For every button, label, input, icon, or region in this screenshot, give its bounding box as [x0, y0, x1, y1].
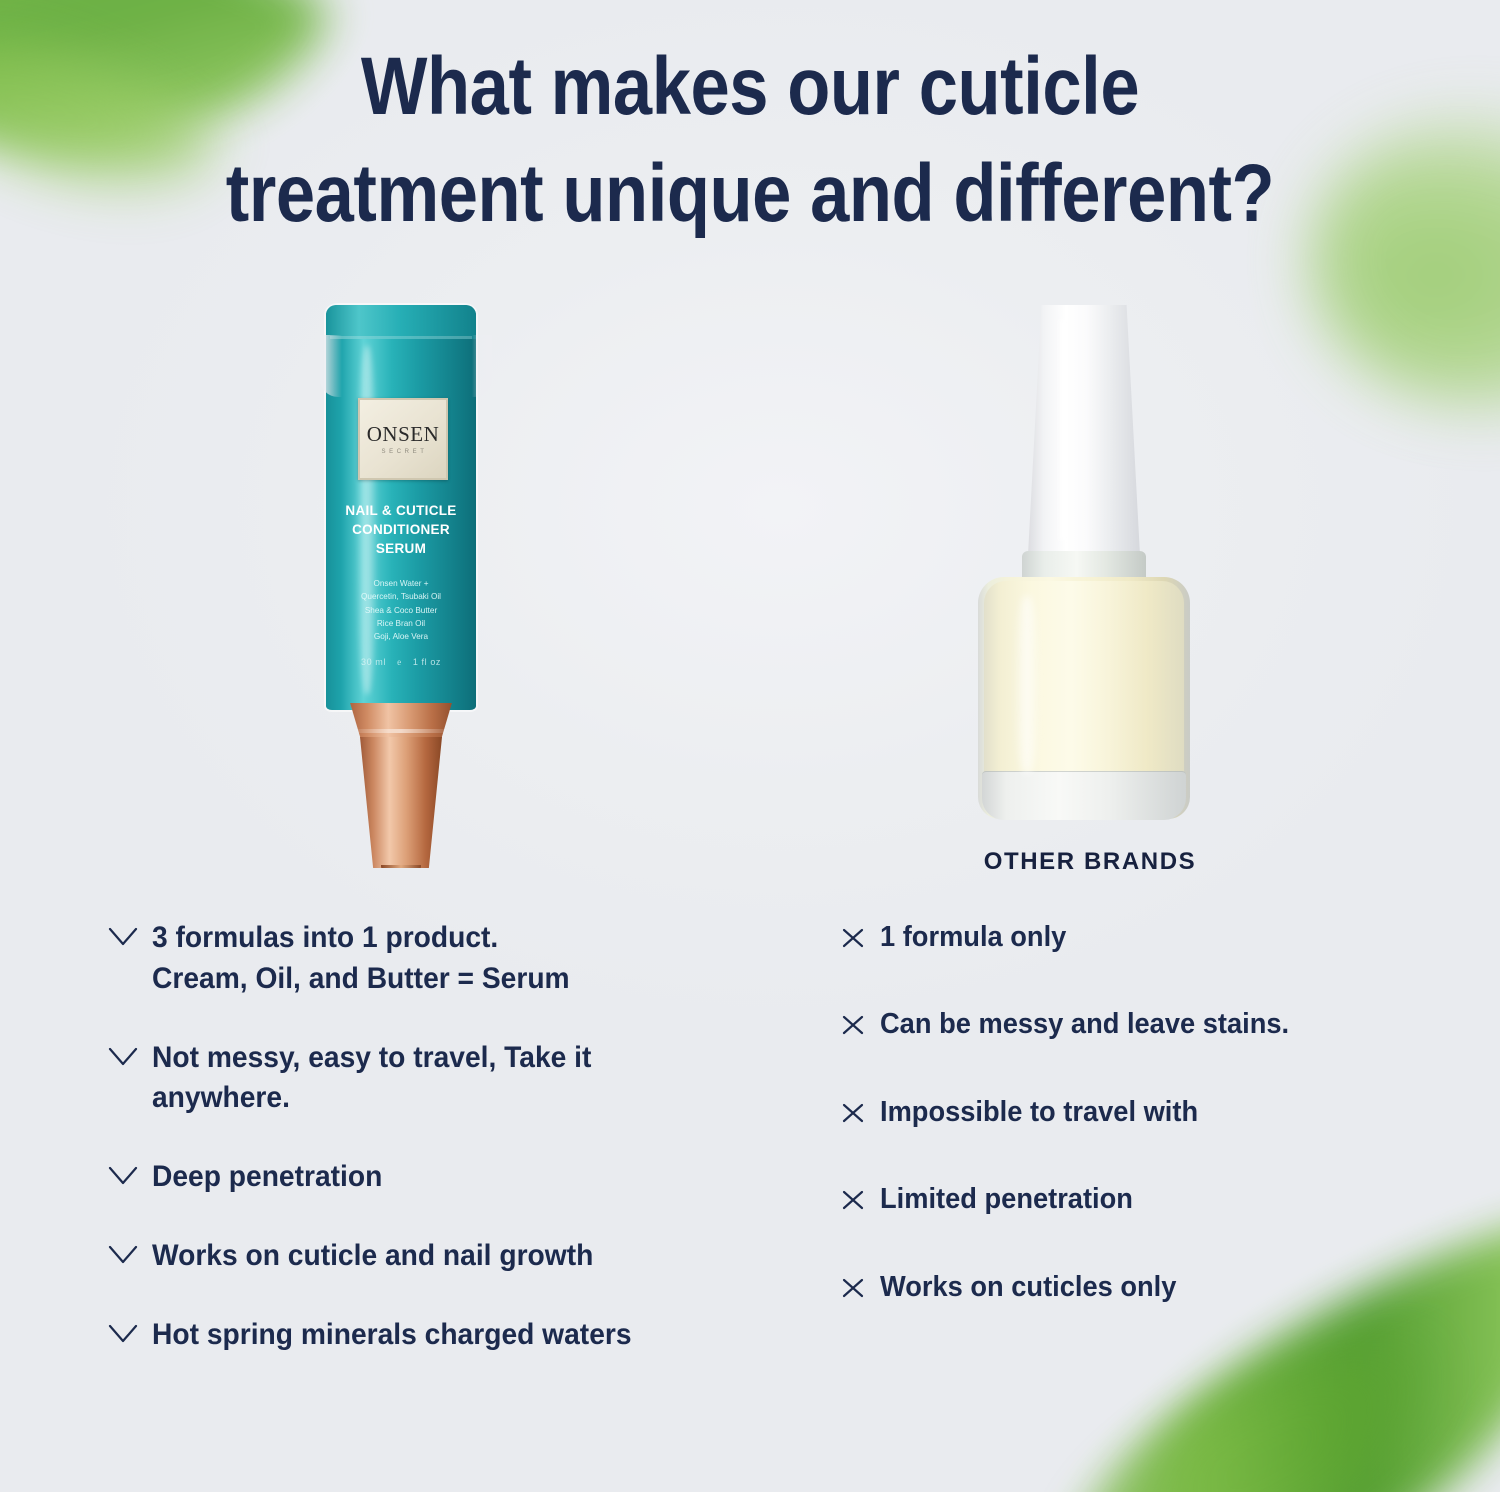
tube-applicator-collar	[348, 703, 454, 739]
ingredients-list: Onsen Water + Quercetin, Tsubaki Oil She…	[326, 577, 476, 643]
check-icon	[108, 1165, 138, 1187]
list-item: Can be messy and leave stains.	[840, 1005, 1440, 1044]
list-item-text: Not messy, easy to travel, Take it anywh…	[152, 1038, 591, 1120]
cross-icon	[840, 1276, 866, 1300]
volume-metric: 30 ml	[361, 657, 386, 667]
list-item-text: Hot spring minerals charged waters	[152, 1315, 632, 1356]
list-item-line-1: Deep penetration	[152, 1160, 382, 1193]
tube-shoulder-left	[320, 335, 342, 397]
tube-crimp-seal	[326, 305, 476, 339]
ingredient-line-2: Quercetin, Tsubaki Oil	[361, 592, 441, 601]
ingredient-line-4: Rice Bran Oil	[377, 619, 425, 628]
our-features-list: 3 formulas into 1 product. Cream, Oil, a…	[108, 918, 768, 1394]
list-item: Works on cuticles only	[840, 1268, 1440, 1307]
list-item-line-1: Works on cuticles only	[880, 1271, 1176, 1303]
cross-icon	[840, 926, 866, 950]
product-name: NAIL & CUTICLE CONDITIONER SERUM	[326, 501, 476, 558]
list-item-text: Limited penetration	[880, 1180, 1133, 1219]
list-item-line-1: Hot spring minerals charged waters	[152, 1318, 632, 1351]
list-item-line-1: 3 formulas into 1 product.	[152, 921, 498, 954]
list-item: Deep penetration	[108, 1157, 768, 1198]
list-item-text: Works on cuticle and nail growth	[152, 1236, 593, 1277]
list-item-text: 1 formula only	[880, 918, 1066, 957]
bottle-highlight	[1014, 595, 1040, 775]
cross-icon	[840, 1013, 866, 1037]
product-name-line-2: CONDITIONER	[352, 522, 450, 537]
list-item: 3 formulas into 1 product. Cream, Oil, a…	[108, 918, 768, 1000]
list-item-line-1: Works on cuticle and nail growth	[152, 1239, 593, 1272]
brand-logo-label: ONSEN SECRET	[358, 398, 448, 480]
volume-imperial: 1 fl oz	[413, 657, 441, 667]
product-name-line-3: SERUM	[376, 541, 426, 556]
list-item-line-1: Impossible to travel with	[880, 1096, 1198, 1128]
list-item-line-1: Not messy, easy to travel, Take it	[152, 1041, 591, 1074]
leaf-decoration-bottom-right-2	[1026, 1334, 1475, 1492]
cross-icon	[840, 1101, 866, 1125]
list-item: Works on cuticle and nail growth	[108, 1236, 768, 1277]
list-item-line-2: anywhere.	[152, 1078, 591, 1119]
list-item: 1 formula only	[840, 918, 1440, 957]
list-item-line-2: Cream, Oil, and Butter = Serum	[152, 959, 570, 1000]
list-item-text: Works on cuticles only	[880, 1268, 1176, 1307]
our-product-image: ONSEN SECRET NAIL & CUTICLE CONDITIONER …	[300, 305, 520, 885]
infographic-canvas: What makes our cuticle treatment unique …	[0, 0, 1500, 1492]
list-item: Not messy, easy to travel, Take it anywh…	[108, 1038, 768, 1120]
list-item-text: Can be messy and leave stains.	[880, 1005, 1289, 1044]
estimated-sign-icon: e	[397, 657, 402, 667]
list-item-text: 3 formulas into 1 product. Cream, Oil, a…	[152, 918, 570, 1000]
ingredient-line-3: Shea & Coco Butter	[365, 606, 437, 615]
list-item-text: Deep penetration	[152, 1157, 382, 1198]
list-item-text: Impossible to travel with	[880, 1093, 1198, 1132]
volume-marking: 30 ml e 1 fl oz	[326, 657, 476, 667]
cross-icon	[840, 1188, 866, 1212]
other-brands-features-list: 1 formula only Can be messy and leave st…	[840, 918, 1440, 1355]
page-title: What makes our cuticle treatment unique …	[105, 34, 1395, 247]
bottle-cap	[1028, 305, 1140, 555]
list-item-line-1: Limited penetration	[880, 1183, 1133, 1215]
ingredient-line-1: Onsen Water +	[374, 579, 429, 588]
page-title-line-2: treatment unique and different?	[105, 141, 1395, 248]
other-brands-caption: OTHER BRANDS	[960, 848, 1220, 876]
tube-shoulder-right	[472, 335, 492, 397]
brand-name: ONSEN	[367, 424, 440, 445]
brand-tagline: SECRET	[382, 449, 428, 455]
list-item: Hot spring minerals charged waters	[108, 1315, 768, 1356]
page-title-line-1: What makes our cuticle	[105, 34, 1395, 141]
check-icon	[108, 1244, 138, 1266]
bottle-base	[982, 771, 1186, 820]
other-brand-product-image	[960, 305, 1220, 835]
list-item: Limited penetration	[840, 1180, 1440, 1219]
list-item: Impossible to travel with	[840, 1093, 1440, 1132]
check-icon	[108, 1046, 138, 1068]
tube-applicator-tip	[360, 737, 442, 872]
list-item-line-1: 1 formula only	[880, 921, 1066, 953]
list-item-line-1: Can be messy and leave stains.	[880, 1008, 1289, 1040]
product-name-line-1: NAIL & CUTICLE	[345, 503, 456, 518]
tube-applicator-ring	[352, 729, 450, 733]
check-icon	[108, 1323, 138, 1345]
ingredient-line-5: Goji, Aloe Vera	[374, 632, 428, 641]
bottle-cap-highlight	[1056, 319, 1072, 541]
check-icon	[108, 926, 138, 948]
